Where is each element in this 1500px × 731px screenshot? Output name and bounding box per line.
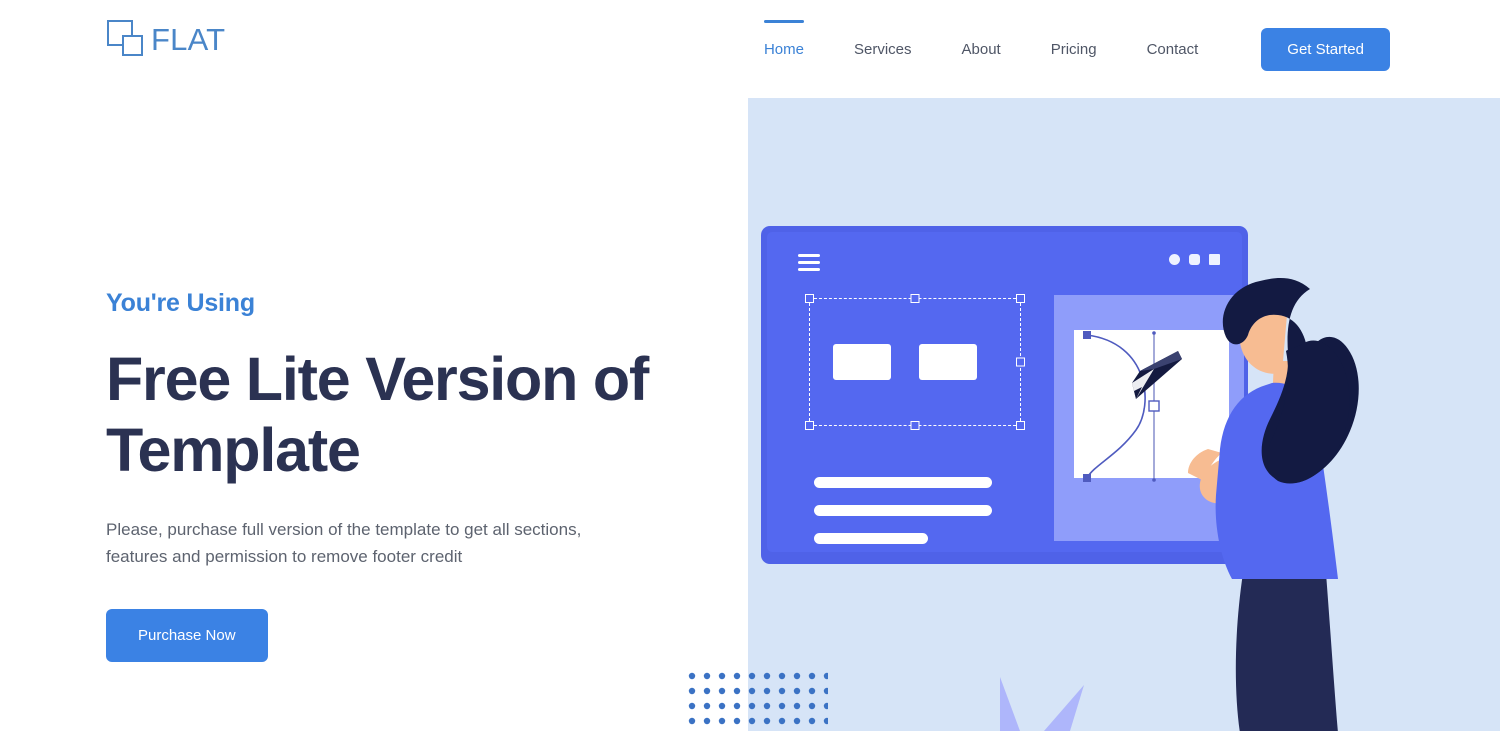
site-header: FLAT Home Services About Pricing Contact… [0,0,1500,98]
leaf-shape-2 [1044,685,1084,731]
nav-item-services[interactable]: Services [829,42,937,57]
leaf-shape-1 [1000,677,1020,731]
hero-headline: Free Lite Version of Template [106,344,666,486]
selection-handle-bottom-left[interactable] [805,421,814,430]
selection-handle-bottom-middle[interactable] [911,421,920,430]
hero-illustration-panel [748,98,1500,731]
purchase-now-button[interactable]: Purchase Now [106,609,268,662]
nav-item-pricing[interactable]: Pricing [1026,42,1122,57]
nav-item-about[interactable]: About [937,42,1026,57]
brand-name: FLAT [151,24,225,55]
anchor-point-top [1083,331,1091,339]
get-started-button[interactable]: Get Started [1261,28,1390,71]
bezier-curve-path [1087,335,1145,478]
placeholder-bar-3 [814,533,928,544]
square-dot-icon[interactable] [1209,254,1220,265]
main-navigation: Home Services About Pricing Contact Get … [739,0,1390,98]
hero-eyebrow: You're Using [106,288,706,318]
selection-handle-top-left[interactable] [805,294,814,303]
placeholder-card-1 [833,344,891,380]
selection-handle-top-right[interactable] [1016,294,1025,303]
decorative-leaf-shapes [958,671,1258,731]
designer-illustration [748,98,1500,731]
nav-item-contact[interactable]: Contact [1122,42,1224,57]
hero-copy: You're Using Free Lite Version of Templa… [106,288,706,662]
selection-handle-bottom-right[interactable] [1016,421,1025,430]
landing-page: FLAT Home Services About Pricing Contact… [0,0,1500,731]
nav-list: Home Services About Pricing Contact [739,42,1223,57]
two-overlapping-squares-icon [106,18,148,60]
placeholder-bar-2 [814,505,992,516]
hero-subcopy: Please, purchase full version of the tem… [106,516,626,571]
hamburger-menu-icon[interactable] [798,254,820,270]
rounded-square-dot-icon[interactable] [1189,254,1200,265]
selection-handle-middle-right[interactable] [1016,358,1025,367]
nav-item-home[interactable]: Home [739,42,829,57]
brand-logo[interactable]: FLAT [106,18,225,60]
placeholder-bar-1 [814,477,992,488]
circle-dot-icon[interactable] [1169,254,1180,265]
placeholder-card-2 [919,344,977,380]
selection-handle-top-middle[interactable] [911,294,920,303]
anchor-point-bottom [1083,474,1091,482]
woman-designer-figure [1148,273,1500,731]
window-controls [1169,254,1220,265]
